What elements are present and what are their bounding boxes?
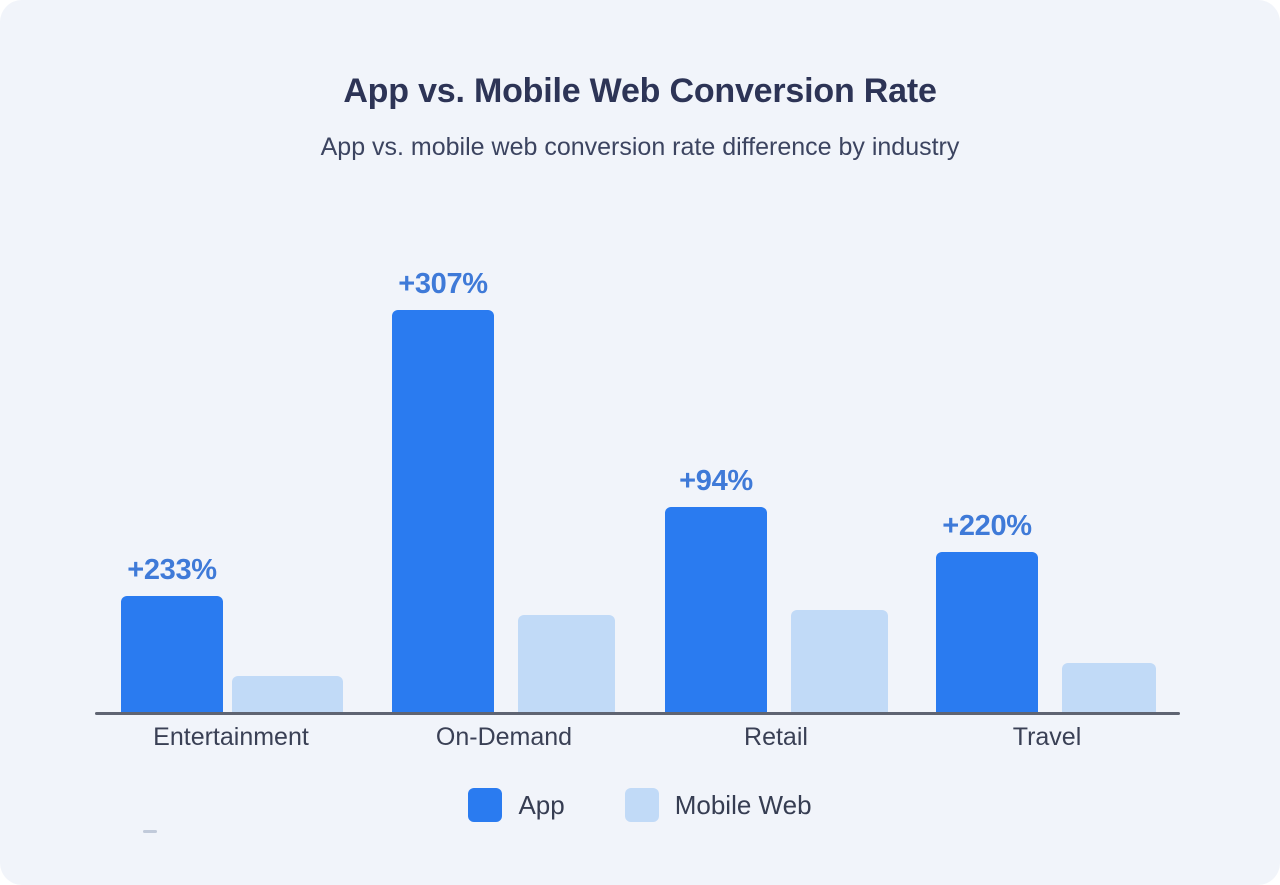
value-label-on-demand: +307%	[380, 268, 506, 301]
x-tick-label-retail: Retail	[651, 723, 901, 752]
bar-chart-plot-area: +233% +307% +94% +220%	[95, 200, 1180, 715]
bar-mobileweb-retail[interactable]	[791, 610, 888, 712]
value-label-retail: +94%	[658, 465, 774, 498]
x-tick-label-entertainment: Entertainment	[106, 723, 356, 752]
x-tick-label-travel: Travel	[922, 723, 1172, 752]
chart-card: App vs. Mobile Web Conversion Rate App v…	[0, 0, 1280, 885]
bar-app-on-demand[interactable]	[392, 310, 494, 712]
legend-item-app[interactable]: App	[468, 788, 564, 822]
bar-mobileweb-entertainment[interactable]	[232, 676, 343, 712]
legend-label-mobile-web: Mobile Web	[675, 790, 812, 821]
bar-app-travel[interactable]	[936, 552, 1038, 712]
value-label-travel: +220%	[924, 510, 1050, 543]
chart-legend: App Mobile Web	[0, 788, 1280, 822]
bar-mobileweb-travel[interactable]	[1062, 663, 1156, 712]
x-axis-line	[95, 712, 1180, 715]
legend-item-mobile-web[interactable]: Mobile Web	[625, 788, 812, 822]
legend-swatch-mobileweb-icon	[625, 788, 659, 822]
page-title: App vs. Mobile Web Conversion Rate	[0, 72, 1280, 111]
bar-mobileweb-on-demand[interactable]	[518, 615, 615, 712]
bar-app-entertainment[interactable]	[121, 596, 223, 712]
legend-label-app: App	[518, 790, 564, 821]
value-label-entertainment: +233%	[109, 554, 235, 587]
legend-swatch-app-icon	[468, 788, 502, 822]
chart-subtitle: App vs. mobile web conversion rate diffe…	[0, 133, 1280, 162]
stray-mark	[143, 830, 157, 833]
bar-app-retail[interactable]	[665, 507, 767, 712]
x-tick-label-on-demand: On-Demand	[379, 723, 629, 752]
